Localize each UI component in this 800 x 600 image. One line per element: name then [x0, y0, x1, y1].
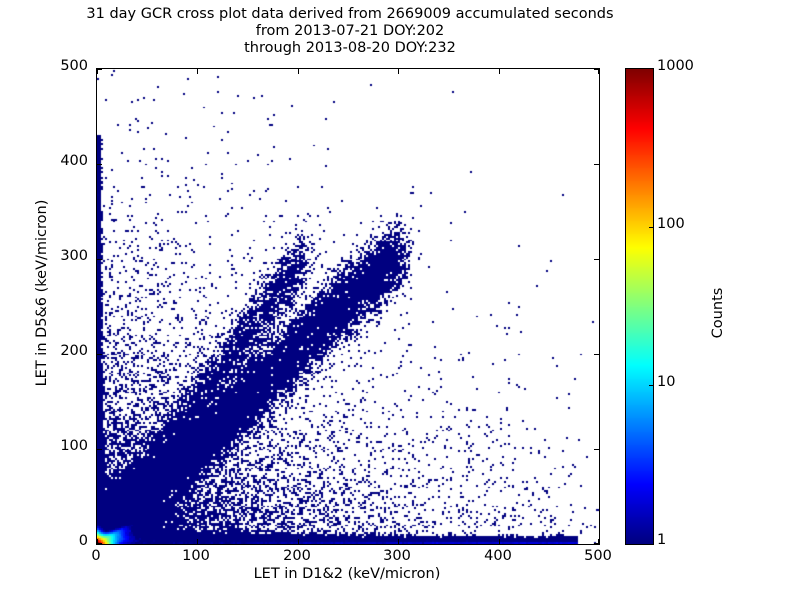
plot-axes: [96, 68, 600, 545]
colorbar-tick-10: [649, 385, 653, 386]
x-tick-top-100: [197, 69, 198, 74]
colorbar-tick-100: [649, 227, 653, 228]
y-axis-label: LET in D5&6 (keV/micron): [34, 193, 50, 393]
x-axis-label: LET in D1&2 (keV/micron): [96, 566, 598, 582]
y-tick-right-400: [594, 164, 599, 165]
x-tick-label-300: 300: [383, 548, 411, 564]
y-tick-right-200: [594, 354, 599, 355]
x-tick-top-200: [298, 69, 299, 74]
x-tick-label-100: 100: [182, 548, 210, 564]
x-tick-300: [398, 539, 399, 544]
title-line-3: through 2013-08-20 DOY:232: [0, 40, 700, 57]
colorbar-label: Counts: [710, 243, 726, 383]
y-tick-0: [97, 543, 102, 544]
x-tick-400: [499, 539, 500, 544]
x-tick-200: [298, 539, 299, 544]
y-tick-200: [97, 354, 102, 355]
x-tick-top-400: [499, 69, 500, 74]
y-tick-500: [97, 69, 102, 70]
y-tick-right-0: [594, 543, 599, 544]
colorbar-gradient: [626, 69, 653, 544]
x-tick-label-400: 400: [484, 548, 512, 564]
title-line-1: 31 day GCR cross plot data derived from …: [0, 6, 700, 23]
x-tick-top-300: [398, 69, 399, 74]
y-tick-right-500: [594, 69, 599, 70]
figure-canvas: 31 day GCR cross plot data derived from …: [0, 0, 800, 600]
y-tick-right-100: [594, 449, 599, 450]
colorbar: [625, 68, 654, 545]
plot-title: 31 day GCR cross plot data derived from …: [0, 6, 700, 57]
scatter-density-plot: [97, 69, 599, 544]
x-tick-label-500: 500: [584, 548, 612, 564]
x-tick-100: [197, 539, 198, 544]
y-tick-right-300: [594, 259, 599, 260]
x-tick-label-0: 0: [91, 548, 100, 564]
x-tick-label-200: 200: [283, 548, 311, 564]
y-tick-100: [97, 449, 102, 450]
y-tick-300: [97, 259, 102, 260]
title-line-2: from 2013-07-21 DOY:202: [0, 23, 700, 40]
y-tick-400: [97, 164, 102, 165]
